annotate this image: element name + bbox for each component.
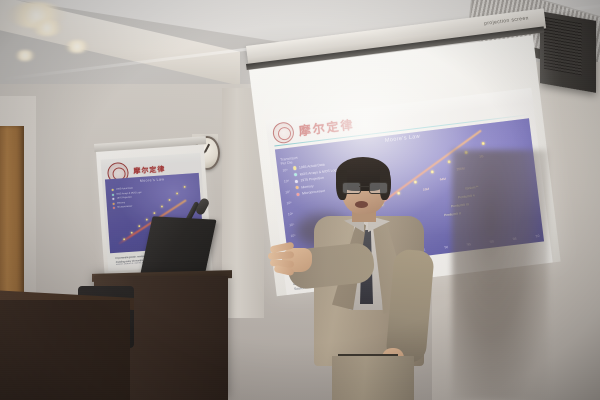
recessed-downlight (30, 20, 64, 36)
lecture-hall-photo: 摩尔定律 Moore's Law 1965 Actual Data MOS Ar… (0, 0, 600, 400)
data-point (138, 225, 140, 227)
wooden-door[interactable] (0, 126, 24, 302)
legend-label: MOS Arrays & MOS Logic (116, 192, 141, 196)
legend-item: 1965 Actual Data (112, 187, 142, 191)
legend-swatch-icon (113, 203, 115, 205)
slide-title: 摩尔定律 (298, 115, 356, 139)
legend-item: Microprocessor (113, 205, 143, 209)
presenter-arm-left (385, 248, 435, 363)
presenter-mouth (355, 201, 368, 208)
data-point (184, 186, 186, 188)
legend-label: 1975 Projection (117, 197, 132, 200)
data-point (168, 199, 170, 201)
presenter-trousers (332, 356, 414, 400)
legend-item: Memory (113, 201, 143, 205)
wall-loudspeaker (540, 11, 596, 93)
data-point (153, 212, 155, 214)
data-point (123, 238, 125, 240)
legend-item: MOS Arrays & MOS Logic (112, 192, 142, 196)
legend-swatch-icon (112, 193, 114, 195)
eyeglasses-icon (342, 182, 387, 192)
data-point (146, 219, 148, 221)
legend-swatch-icon (112, 189, 114, 191)
lens-right (369, 182, 388, 194)
glasses-bridge (359, 186, 369, 187)
legend-swatch-icon (113, 207, 115, 209)
data-point (161, 205, 163, 207)
university-seal-icon (272, 121, 295, 144)
presenter (286, 158, 456, 400)
legend-label: Memory (117, 202, 125, 205)
presenter-hand-right (270, 236, 316, 276)
legend-label: Microprocessor (117, 206, 132, 209)
presenter-shadow (452, 150, 548, 400)
legend-swatch-icon (112, 198, 114, 200)
recessed-downlight (14, 50, 36, 61)
speaker-grille (544, 17, 582, 76)
data-point (481, 141, 485, 145)
legend-item: 1975 Projection (112, 196, 142, 200)
front-desk-counter (0, 300, 130, 400)
lens-left (342, 182, 361, 194)
recessed-downlight (64, 40, 90, 53)
legend-label: 1965 Actual Data (116, 188, 133, 191)
data-point (176, 192, 178, 194)
housing-brand-label: projection screen (484, 15, 529, 27)
left-chart-legend: 1965 Actual Data MOS Arrays & MOS Logic … (112, 187, 143, 212)
data-point (131, 232, 133, 234)
